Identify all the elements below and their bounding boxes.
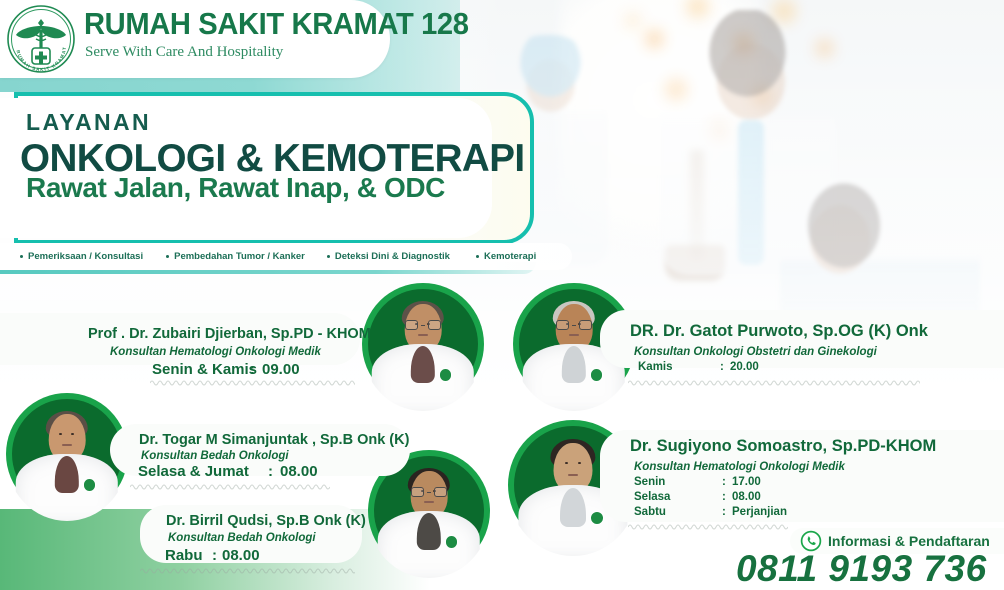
portrait-mouth xyxy=(568,474,578,476)
squiggle-divider-icon xyxy=(150,378,355,388)
schedule-day: Selasa & Jumat xyxy=(138,463,249,480)
bullet-dot-icon xyxy=(476,255,479,258)
schedule-time: 08.00 xyxy=(222,547,260,564)
squiggle-divider-icon xyxy=(140,566,355,576)
schedule-time: 17.00 xyxy=(732,476,761,488)
portrait-eye xyxy=(59,433,62,435)
doctor-specialty: Konsultan Bedah Onkologi xyxy=(168,532,316,544)
services-list: Pemeriksaan / KonsultasiPembedahan Tumor… xyxy=(0,243,572,270)
schedule-separator: : xyxy=(250,361,255,378)
service-item: Pembedahan Tumor / Kanker xyxy=(166,251,305,262)
doctor-specialty: Konsultan Bedah Onkologi xyxy=(141,450,289,462)
service-label: Kemoterapi xyxy=(484,251,536,262)
schedule-day: Sabtu xyxy=(634,506,666,518)
schedule-separator: : xyxy=(722,491,726,503)
service-item: Pemeriksaan / Konsultasi xyxy=(20,251,143,262)
doctor-portrait xyxy=(362,283,484,411)
schedule-time: 09.00 xyxy=(262,361,300,378)
portrait-glasses xyxy=(405,320,441,330)
doctor-name: Prof . Dr. Zubairi Djierban, Sp.PD - KHO… xyxy=(88,326,371,342)
service-item: Kemoterapi xyxy=(476,251,536,262)
contact-label: Informasi & Pendaftaran xyxy=(828,533,990,549)
doctor-name: Dr. Togar M Simanjuntak , Sp.B Onk (K) xyxy=(139,432,409,448)
portrait-glasses xyxy=(411,487,447,497)
schedule-day: Rabu xyxy=(165,547,203,564)
portrait-mouth xyxy=(418,334,428,336)
schedule-time: 08.00 xyxy=(280,463,318,480)
portrait-mouth xyxy=(424,501,434,503)
hero-eyebrow: LAYANAN xyxy=(26,109,151,136)
doctor-specialty: Konsultan Onkologi Obstetri dan Ginekolo… xyxy=(634,346,877,358)
doctor-name: DR. Dr. Gatot Purwoto, Sp.OG (K) Onk xyxy=(630,322,928,341)
schedule-separator: : xyxy=(720,361,724,373)
portrait-eye xyxy=(71,433,74,435)
service-item: Deteksi Dini & Diagnostik xyxy=(327,251,450,262)
doctor-specialty: Konsultan Hematologi Onkologi Medik xyxy=(110,346,321,358)
service-label: Deteksi Dini & Diagnostik xyxy=(335,251,450,262)
squiggle-divider-icon xyxy=(628,378,920,388)
bullet-dot-icon xyxy=(327,255,330,258)
squiggle-divider-icon xyxy=(130,482,330,492)
squiggle-divider-icon xyxy=(628,522,788,532)
schedule-day: Kamis xyxy=(638,361,673,373)
doctor-photo xyxy=(362,283,484,405)
doctor-name: Dr. Birril Qudsi, Sp.B Onk (K) xyxy=(166,513,366,529)
schedule-separator: : xyxy=(722,476,726,488)
hero-subtitle: Rawat Jalan, Rawat Inap, & ODC xyxy=(26,172,445,204)
brand-title: RUMAH SAKIT KRAMAT 128 xyxy=(84,6,469,42)
portrait-glasses xyxy=(556,320,592,330)
bullet-dot-icon xyxy=(20,255,23,258)
hospital-crest-logo-icon: RUMAH SAKIT KRAMAT 128 xyxy=(6,4,76,74)
doctor-portrait xyxy=(6,393,128,521)
service-label: Pembedahan Tumor / Kanker xyxy=(174,251,305,262)
schedule-separator: : xyxy=(212,547,217,564)
poster-canvas: RUMAH SAKIT KRAMAT 128 RUMAH SAKIT KRAMA… xyxy=(0,0,1004,590)
doctor-specialty: Konsultan Hematologi Onkologi Medik xyxy=(634,461,845,473)
schedule-day: Senin & Kamis xyxy=(152,361,257,378)
schedule-time: 20.00 xyxy=(730,361,759,373)
contact-phone[interactable]: 0811 9193 736 xyxy=(736,548,987,590)
doctor-name: Dr. Sugiyono Somoastro, Sp.PD-KHOM xyxy=(630,437,936,456)
service-label: Pemeriksaan / Konsultasi xyxy=(28,251,143,262)
portrait-mouth xyxy=(569,334,579,336)
brand-tagline: Serve With Care And Hospitality xyxy=(85,44,283,61)
schedule-time: Perjanjian xyxy=(732,506,787,518)
schedule-time: 08.00 xyxy=(732,491,761,503)
schedule-day: Senin xyxy=(634,476,665,488)
schedule-day: Selasa xyxy=(634,491,670,503)
portrait-mouth xyxy=(62,444,72,446)
schedule-separator: : xyxy=(268,463,273,480)
schedule-separator: : xyxy=(722,506,726,518)
bullet-dot-icon xyxy=(166,255,169,258)
